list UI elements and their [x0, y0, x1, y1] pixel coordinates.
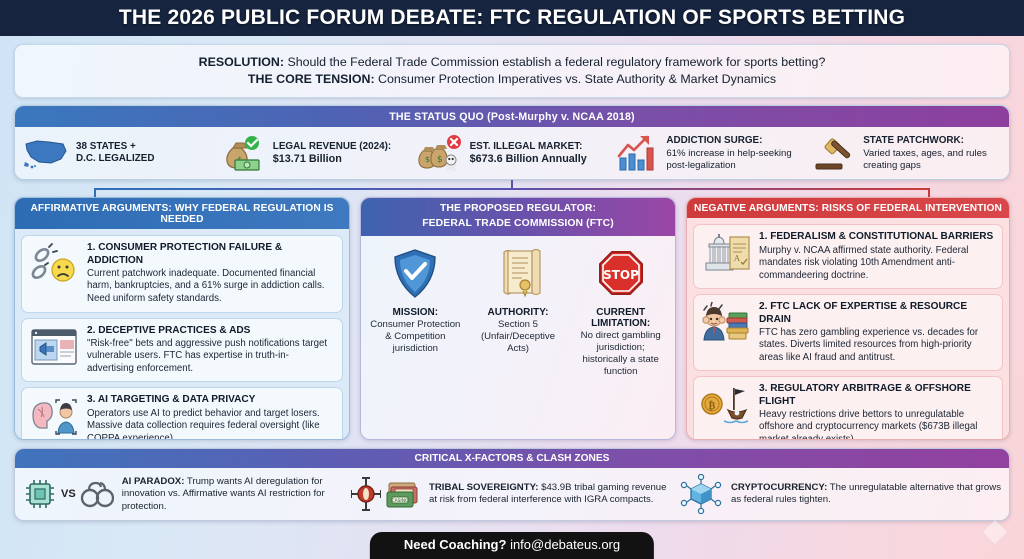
- affirmative-argument-2: 2. DECEPTIVE PRACTICES & ADS "Risk-free"…: [21, 318, 343, 383]
- status-quo-item-subtitle: 61% increase in help-seeking post-legali…: [666, 148, 804, 172]
- stop-sign-icon: STOP: [596, 246, 646, 302]
- xfactors-items: VS AI PARADOX: Trump wants AI deregulati…: [15, 468, 1009, 520]
- xfactors-panel: CRITICAL X-FACTORS & CLASH ZONES VS AI P…: [14, 448, 1010, 521]
- status-quo-items: 38 STATES + D.C. LEGALIZED $ LEGAL REVEN…: [15, 127, 1009, 179]
- status-quo-heading: THE STATUS QUO (Post-Murphy v. NCAA 2018…: [15, 106, 1009, 127]
- status-quo-panel: THE STATUS QUO (Post-Murphy v. NCAA 2018…: [14, 105, 1010, 180]
- page-title-bar: THE 2026 PUBLIC FORUM DEBATE: FTC REGULA…: [0, 0, 1024, 36]
- status-quo-item-title: LEGAL REVENUE (2024):: [273, 141, 391, 153]
- affirmative-body: 1. CONSUMER PROTECTION FAILURE & ADDICTI…: [15, 229, 349, 440]
- xfactor-label: AI PARADOX:: [122, 476, 185, 487]
- resolution-line: RESOLUTION: Should the Federal Trade Com…: [25, 54, 999, 71]
- resolution-label: RESOLUTION:: [199, 55, 284, 69]
- svg-text:A: A: [733, 254, 740, 263]
- svg-text:CASINO: CASINO: [392, 498, 409, 504]
- xfactor-text: TRIBAL SOVEREIGNTY: $43.9B tribal gaming…: [429, 482, 673, 507]
- status-quo-item-value: $673.6 Billion Annually: [470, 153, 587, 166]
- bitcoin-pirate-ship-icon: ₿: [700, 383, 752, 427]
- regulator-pillar-desc: No direct gambling jurisdiction; histori…: [573, 330, 668, 379]
- coaching-email: info@debateus.org: [506, 537, 620, 552]
- connector-bar: [94, 188, 931, 197]
- footer: Need Coaching? info@debateus.org: [0, 529, 1024, 559]
- resolution-text: Should the Federal Trade Commission esta…: [284, 55, 825, 69]
- negative-argument-3: ₿ 3. REGULATORY ARBITRAGE & OFFSHORE FLI…: [693, 376, 1003, 440]
- negative-heading: NEGATIVE ARGUMENTS: RISKS OF FEDERAL INT…: [687, 198, 1009, 218]
- core-tension-line: THE CORE TENSION: Consumer Protection Im…: [25, 71, 999, 88]
- regulator-pillars: MISSION: Consumer Protection & Competiti…: [361, 236, 675, 440]
- regulator-pillar-authority: AUTHORITY: Section 5 (Unfair/Deceptive A…: [468, 246, 569, 432]
- ai-brain-profile-icon: [28, 394, 80, 438]
- affirmative-argument-body: 1. CONSUMER PROTECTION FAILURE & ADDICTI…: [87, 242, 335, 305]
- gavel-icon: [810, 133, 856, 173]
- status-quo-item-subtitle: Varied taxes, ages, and rules creating g…: [863, 148, 1001, 172]
- regulator-pillar-title: CURRENT LIMITATION:: [573, 307, 668, 329]
- regulator-column: THE PROPOSED REGULATOR: FEDERAL TRADE CO…: [360, 197, 676, 440]
- negative-argument-text: Heavy restrictions drive bettors to unre…: [759, 409, 995, 441]
- status-quo-item-text: EST. ILLEGAL MARKET: $673.6 Billion Annu…: [470, 141, 587, 167]
- status-quo-item-title: STATE PATCHWORK:: [863, 135, 1001, 147]
- money-bag-check-icon: $: [220, 133, 266, 173]
- svg-text:$: $: [425, 155, 430, 164]
- shield-check-icon: [390, 246, 440, 302]
- status-quo-item-text: STATE PATCHWORK: Varied taxes, ages, and…: [863, 135, 1001, 171]
- svg-text:$: $: [437, 155, 443, 165]
- affirmative-argument-text: "Risk-free" bets and aggressive push not…: [87, 338, 335, 376]
- megaphone-ad-icon: [28, 325, 80, 369]
- regulator-pillar-desc: Consumer Protection & Competition jurisd…: [368, 319, 463, 356]
- affirmative-heading: AFFIRMATIVE ARGUMENTS: WHY FEDERAL REGUL…: [15, 198, 349, 229]
- affirmative-argument-3: 3. AI TARGETING & DATA PRIVACY Operators…: [21, 387, 343, 440]
- affirmative-argument-title: 3. AI TARGETING & DATA PRIVACY: [87, 394, 335, 406]
- regulator-heading: THE PROPOSED REGULATOR: FEDERAL TRADE CO…: [361, 198, 675, 235]
- xfactor-ai-paradox: VS AI PARADOX: Trump wants AI deregulati…: [23, 474, 345, 514]
- negative-argument-title: 2. FTC LACK OF EXPERTISE & RESOURCE DRAI…: [759, 301, 995, 325]
- column-connector: [14, 180, 1010, 197]
- affirmative-argument-title: 1. CONSUMER PROTECTION FAILURE & ADDICTI…: [87, 242, 335, 266]
- status-quo-item-value: $13.71 Billion: [273, 153, 391, 166]
- regulator-heading-line2: FEDERAL TRADE COMMISSION (FTC): [365, 217, 671, 231]
- xfactor-vs-label: VS: [61, 488, 76, 500]
- status-quo-item: STATE PATCHWORK: Varied taxes, ages, and…: [808, 133, 1003, 173]
- money-bags-skull-icon: $$: [417, 133, 463, 173]
- resolution-box: RESOLUTION: Should the Federal Trade Com…: [14, 44, 1010, 98]
- negative-argument-2: 2. FTC LACK OF EXPERTISE & RESOURCE DRAI…: [693, 294, 1003, 371]
- status-quo-item: $ LEGAL REVENUE (2024): $13.71 Billion: [218, 133, 413, 173]
- status-quo-item-title: EST. ILLEGAL MARKET:: [470, 141, 587, 153]
- affirmative-column: AFFIRMATIVE ARGUMENTS: WHY FEDERAL REGUL…: [14, 197, 350, 440]
- status-quo-item: 38 STATES + D.C. LEGALIZED: [21, 133, 216, 173]
- negative-argument-body: 2. FTC LACK OF EXPERTISE & RESOURCE DRAI…: [759, 301, 995, 364]
- negative-column: NEGATIVE ARGUMENTS: RISKS OF FEDERAL INT…: [686, 197, 1010, 440]
- negative-argument-1: A 1. FEDERALISM & CONSTITUTIONAL BARRIER…: [693, 224, 1003, 289]
- negative-argument-body: 1. FEDERALISM & CONSTITUTIONAL BARRIERS …: [759, 231, 995, 282]
- regulator-pillar-desc: Section 5 (Unfair/Deceptive Acts): [471, 319, 566, 356]
- status-quo-item-text: ADDICTION SURGE: 61% increase in help-se…: [666, 135, 804, 171]
- status-quo-item-text: LEGAL REVENUE (2024): $13.71 Billion: [273, 141, 391, 167]
- negative-argument-body: 3. REGULATORY ARBITRAGE & OFFSHORE FLIGH…: [759, 383, 995, 440]
- broken-chain-sad-face-icon: [28, 242, 80, 286]
- affirmative-argument-1: 1. CONSUMER PROTECTION FAILURE & ADDICTI…: [21, 235, 343, 312]
- xfactor-label: CRYPTOCURRENCY:: [731, 482, 827, 493]
- svg-text:₿: ₿: [709, 400, 716, 412]
- xfactor-tribal-sovereignty: CASINO TRIBAL SOVEREIGNTY: $43.9B tribal…: [351, 474, 673, 514]
- xfactor-text: CRYPTOCURRENCY: The unregulatable altern…: [731, 482, 1001, 507]
- xfactor-label: TRIBAL SOVEREIGNTY:: [429, 482, 538, 493]
- status-quo-item-title: 38 STATES +: [76, 141, 154, 153]
- negative-argument-title: 1. FEDERALISM & CONSTITUTIONAL BARRIERS: [759, 231, 995, 243]
- core-tension-label: THE CORE TENSION:: [248, 72, 375, 86]
- arguments-columns: AFFIRMATIVE ARGUMENTS: WHY FEDERAL REGUL…: [14, 197, 1010, 440]
- capitol-constitution-icon: A: [700, 231, 752, 275]
- negative-argument-text: Murphy v. NCAA affirmed state authority.…: [759, 245, 995, 283]
- affirmative-argument-body: 3. AI TARGETING & DATA PRIVACY Operators…: [87, 394, 335, 440]
- regulator-heading-line1: THE PROPOSED REGULATOR:: [365, 202, 671, 216]
- blockchain-cube-icon: [679, 474, 723, 514]
- regulator-pillar-limitation: STOP CURRENT LIMITATION: No direct gambl…: [570, 246, 671, 432]
- xfactor-text: AI PARADOX: Trump wants AI deregulation …: [122, 476, 345, 513]
- affirmative-argument-title: 2. DECEPTIVE PRACTICES & ADS: [87, 325, 335, 337]
- status-quo-item-subtitle: D.C. LEGALIZED: [76, 153, 154, 165]
- rising-chart-icon: [613, 133, 659, 173]
- svg-text:STOP: STOP: [603, 268, 639, 282]
- tribal-casino-icon: CASINO: [351, 474, 421, 514]
- status-quo-item-text: 38 STATES + D.C. LEGALIZED: [76, 141, 154, 166]
- xfactors-heading: CRITICAL X-FACTORS & CLASH ZONES: [15, 449, 1009, 468]
- page-title: THE 2026 PUBLIC FORUM DEBATE: FTC REGULA…: [119, 6, 905, 30]
- regulator-pillar-title: MISSION:: [393, 307, 439, 318]
- coaching-label: Need Coaching?: [404, 537, 507, 552]
- status-quo-item-title: ADDICTION SURGE:: [666, 135, 804, 147]
- stressed-person-books-icon: [700, 301, 752, 345]
- us-map-icon: [23, 133, 69, 173]
- scroll-seal-icon: [494, 246, 542, 302]
- xfactor-cryptocurrency: CRYPTOCURRENCY: The unregulatable altern…: [679, 474, 1001, 514]
- regulator-pillar-title: AUTHORITY:: [488, 307, 549, 318]
- negative-argument-title: 3. REGULATORY ARBITRAGE & OFFSHORE FLIGH…: [759, 383, 995, 407]
- negative-argument-text: FTC has zero gambling experience vs. dec…: [759, 327, 995, 365]
- regulator-pillar-mission: MISSION: Consumer Protection & Competiti…: [365, 246, 466, 432]
- coaching-cta[interactable]: Need Coaching? info@debateus.org: [370, 532, 654, 559]
- affirmative-argument-text: Current patchwork inadequate. Documented…: [87, 268, 335, 306]
- affirmative-argument-body: 2. DECEPTIVE PRACTICES & ADS "Risk-free"…: [87, 325, 335, 376]
- negative-body: A 1. FEDERALISM & CONSTITUTIONAL BARRIER…: [687, 218, 1009, 440]
- chip-vs-handcuffs-icon: VS: [23, 474, 114, 514]
- status-quo-item: $$ EST. ILLEGAL MARKET: $673.6 Billion A…: [415, 133, 610, 173]
- affirmative-argument-text: Operators use AI to predict behavior and…: [87, 408, 335, 441]
- status-quo-item: ADDICTION SURGE: 61% increase in help-se…: [611, 133, 806, 173]
- core-tension-text: Consumer Protection Imperatives vs. Stat…: [375, 72, 776, 86]
